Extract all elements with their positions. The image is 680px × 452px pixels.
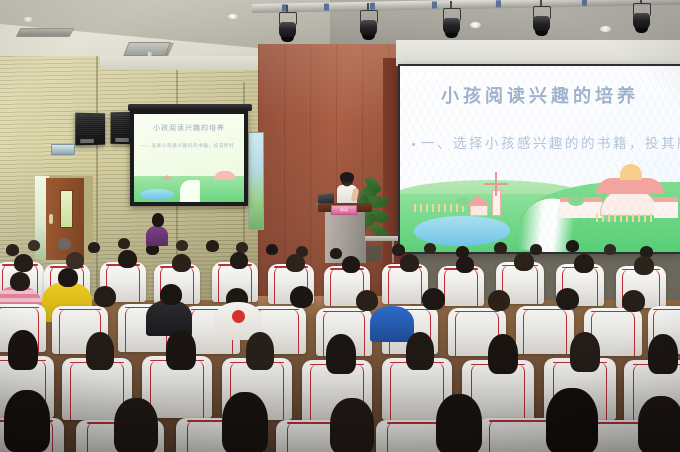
audience-head	[28, 240, 40, 251]
audience-head	[222, 392, 268, 452]
audience-head	[546, 388, 598, 452]
audience-head	[166, 330, 196, 370]
plant-pot	[365, 246, 381, 262]
audience-head	[246, 332, 274, 370]
audience-head	[326, 334, 356, 374]
projector-ceiling-plate	[123, 42, 171, 56]
audience-head	[118, 250, 137, 268]
bullet-marker-icon	[412, 143, 415, 146]
audience-head	[8, 330, 38, 370]
audience-head	[330, 398, 374, 452]
audience-head	[530, 244, 542, 255]
smiley-face-graphic-icon	[232, 310, 245, 323]
audience-head	[290, 286, 313, 308]
audience-head	[94, 286, 116, 307]
audience-head	[58, 268, 78, 287]
audience-head	[424, 243, 436, 254]
audience-head	[266, 244, 278, 255]
slide-house-small	[214, 171, 236, 180]
secondary-slide-bullet: 一、选择小孩感兴趣的的书籍，投其所好	[141, 143, 240, 149]
slide-title: 小孩阅读兴趣的培养	[400, 82, 680, 108]
wall-sign	[51, 144, 75, 155]
slide-windmill-small	[162, 175, 172, 180]
slide-bullet-label: 一、选择小孩感兴趣的的书籍，投其所好	[421, 136, 680, 152]
audience-head	[206, 240, 219, 252]
slide-path-small	[180, 180, 200, 202]
audience-head	[422, 288, 445, 310]
audience-head	[86, 332, 114, 370]
audience-head	[6, 244, 19, 256]
audience-head	[176, 240, 188, 251]
audience-person-purple	[146, 226, 168, 246]
audience-head	[286, 254, 305, 272]
speaker-hair	[340, 172, 354, 181]
audience-head	[566, 240, 579, 252]
audience-head	[114, 398, 158, 452]
audience-head	[152, 213, 164, 227]
audience-head	[488, 334, 518, 374]
audience-head	[88, 242, 100, 253]
audience-head	[604, 244, 616, 255]
secondary-slide-title: 小孩阅读兴趣的培养	[134, 123, 244, 133]
ceiling-downlight	[24, 17, 33, 22]
audience-head	[356, 290, 378, 311]
podium-sign: 阅读	[331, 205, 357, 215]
audience-head	[66, 252, 84, 269]
audience-head	[342, 256, 360, 273]
chair	[516, 306, 574, 354]
upper-white-wall-right	[396, 40, 680, 66]
audience-head	[638, 396, 680, 452]
audience-head	[58, 238, 71, 250]
audience-head	[406, 332, 434, 370]
audience-head	[400, 254, 419, 272]
audience-head	[634, 256, 654, 275]
main-projection-screen: 小孩阅读兴趣的培养 一、选择小孩感兴趣的的书籍，投其所好	[400, 66, 680, 252]
audience-person-blue	[370, 306, 414, 342]
audience-head	[172, 254, 191, 272]
auditorium-photo: 小孩阅读兴趣的培养 一、选择小孩感兴趣的的书籍，投其所好 小孩阅读兴趣的培养 一…	[0, 0, 680, 452]
upper-white-wall-left	[100, 56, 266, 70]
audience-head	[118, 238, 130, 249]
door-window	[60, 190, 73, 228]
audience-head	[574, 254, 594, 273]
window-sliver	[248, 132, 264, 230]
audience-head	[330, 248, 342, 259]
audience-head	[456, 256, 474, 273]
audience-head	[514, 252, 534, 271]
audience-head	[4, 390, 50, 452]
audience-head	[14, 254, 33, 272]
ceiling-downlight	[228, 14, 238, 19]
audience-head	[10, 272, 30, 291]
wall-speaker	[75, 113, 105, 146]
audience-head	[494, 242, 507, 254]
audience-head	[436, 394, 482, 452]
audience-head	[556, 288, 579, 310]
audience-head	[488, 290, 510, 311]
slide-pond-small	[140, 189, 174, 200]
ceiling-downlight	[600, 26, 611, 32]
audience-head	[622, 290, 645, 312]
audience-head	[392, 244, 405, 256]
door-handle[interactable]	[49, 214, 53, 224]
ceiling-vent	[16, 28, 75, 37]
secondary-projection-screen: 小孩阅读兴趣的培养 一、选择小孩感兴趣的的书籍，投其所好	[134, 114, 244, 202]
audience-head	[230, 252, 248, 269]
ceiling-downlight	[470, 22, 481, 28]
audience-head	[648, 334, 678, 374]
slide-bullet-text: 一、选择小孩感兴趣的的书籍，投其所好	[412, 132, 680, 152]
audience-head	[160, 284, 182, 305]
audience-head	[570, 332, 600, 372]
podium-sign-text: 阅读	[332, 206, 356, 214]
wall-seam	[96, 56, 98, 316]
